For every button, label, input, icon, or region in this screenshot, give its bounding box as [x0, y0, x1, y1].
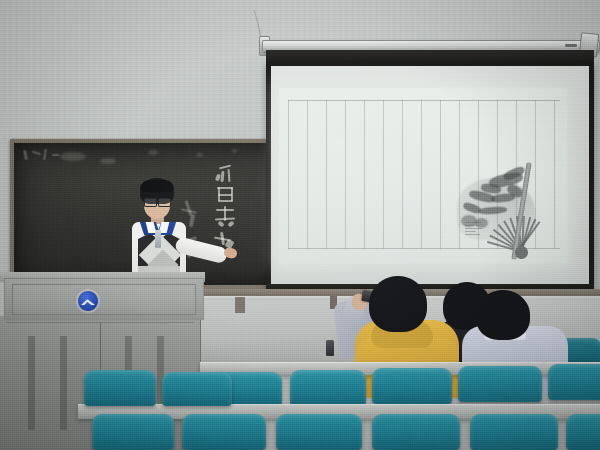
podium-vent [28, 336, 35, 430]
chalk-tray-bracket [235, 297, 245, 313]
chalk-smudge [232, 149, 237, 153]
presenter-hair-fringe [140, 180, 174, 192]
folding-fan-illustration [455, 160, 567, 265]
seat[interactable] [290, 370, 366, 406]
classroom-scene: Classroom presentation with projector sc… [0, 0, 600, 450]
student-yellow-hoodie-head [369, 276, 427, 332]
seat[interactable] [566, 414, 600, 450]
seat[interactable] [548, 364, 600, 400]
chalk-smudge [196, 153, 203, 157]
seat[interactable] [182, 414, 266, 450]
glasses-icon-right [158, 198, 171, 207]
chalk-smudge [100, 158, 116, 164]
slide-grid-line [288, 100, 289, 249]
slide-grid-line [364, 100, 365, 249]
chalk-smudge [60, 152, 86, 161]
glasses-icon [144, 198, 157, 207]
podium-vent [60, 336, 67, 430]
slide-grid-line [383, 100, 384, 249]
seat[interactable] [84, 370, 156, 406]
seat[interactable] [92, 414, 174, 450]
bottle-on-desk[interactable] [326, 340, 334, 356]
slide-grid-line [421, 100, 422, 249]
podium-panel-inset [12, 284, 196, 315]
slide-grid-line [345, 100, 346, 249]
seat[interactable] [372, 414, 460, 450]
chalk-smudge [148, 150, 158, 155]
presenter-tie [155, 230, 161, 248]
seat[interactable] [276, 414, 362, 450]
seat[interactable] [470, 414, 558, 450]
slide-grid-line [440, 100, 441, 249]
glasses-bridge [155, 201, 158, 202]
chalk-mark [52, 154, 59, 156]
slide-grid-line [326, 100, 327, 249]
slide-grid-line [402, 100, 403, 249]
seat[interactable] [458, 366, 542, 402]
student-blue-shirt-head [476, 290, 530, 340]
slide-grid-top-border [288, 100, 560, 101]
screen-rail-detail [565, 44, 577, 47]
slide-grid-line [307, 100, 308, 249]
seat[interactable] [372, 368, 452, 404]
seat[interactable] [162, 372, 232, 406]
